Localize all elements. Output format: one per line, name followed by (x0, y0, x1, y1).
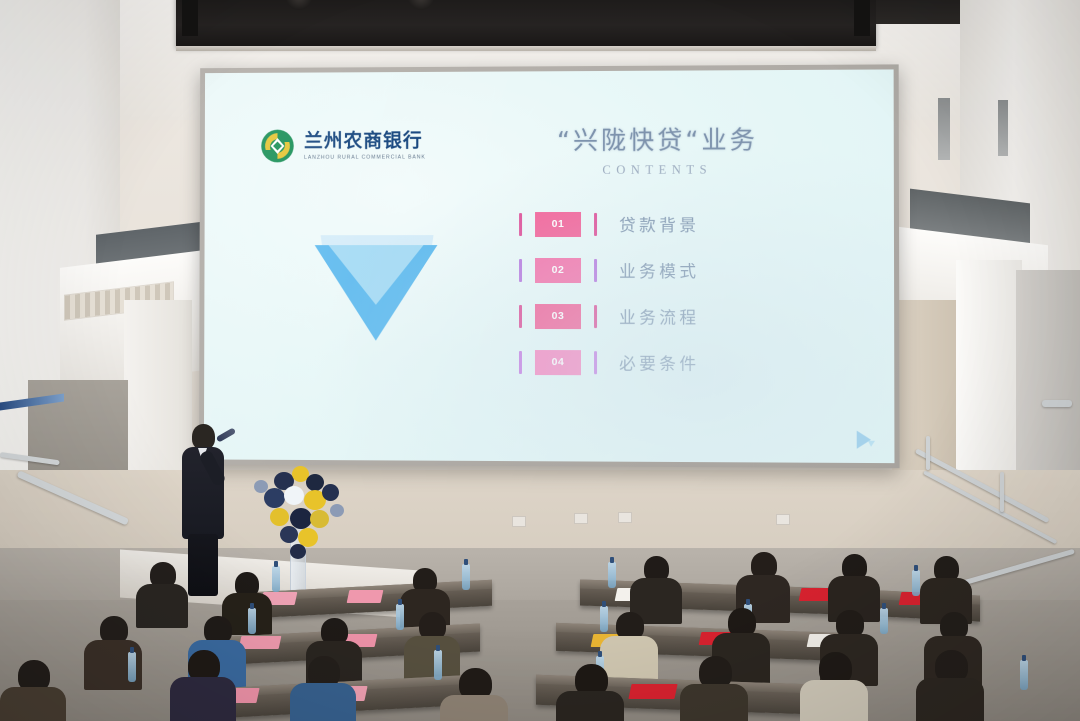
contents-item-02[interactable]: 02 业务模式 (519, 247, 862, 293)
item-number-badge: 01 (535, 211, 581, 236)
left-bar-icon (519, 350, 522, 373)
audience-member (920, 556, 972, 614)
railing-post (926, 436, 930, 470)
red-folder (628, 684, 677, 699)
bank-name-en: LANZHOU RURAL COMMERCIAL BANK (304, 154, 426, 160)
item-number-badge: 02 (535, 257, 581, 282)
slide-title: “兴陇快贷“业务 (477, 120, 839, 157)
wall-outlet (512, 516, 526, 527)
left-bar-icon (519, 213, 522, 236)
wall-outlet (618, 512, 632, 523)
water-bottle (248, 608, 256, 634)
audience-member (800, 652, 868, 721)
contents-item-label: 必要条件 (619, 350, 700, 374)
water-bottle (272, 566, 280, 592)
left-bar-icon (519, 304, 522, 327)
railing-post (1000, 472, 1004, 512)
conference-hall-scene: 兰州农商银行 LANZHOU RURAL COMMERCIAL BANK “兴陇… (0, 0, 1080, 721)
audience-member (916, 650, 984, 721)
water-bottle (880, 608, 888, 634)
presentation-slide: 兰州农商银行 LANZHOU RURAL COMMERCIAL BANK “兴陇… (204, 69, 895, 463)
right-bar-icon (594, 212, 597, 235)
slide-subtitle: CONTENTS (477, 162, 839, 178)
audience-member (556, 664, 624, 721)
bank-logo-block: 兰州农商银行 LANZHOU RURAL COMMERCIAL BANK (260, 128, 426, 164)
left-bar-icon (519, 259, 522, 282)
audience-member (170, 650, 236, 721)
right-wall-slot-1 (938, 98, 950, 160)
audience-member (0, 660, 66, 721)
audience-member (290, 656, 356, 721)
water-bottle (912, 570, 920, 596)
right-bar-icon (594, 258, 597, 281)
contents-item-01[interactable]: 01 贷款背景 (519, 200, 861, 247)
right-bar-icon (594, 351, 597, 374)
contents-item-label: 业务模式 (619, 258, 699, 282)
microphone-icon (216, 427, 236, 442)
contents-item-label: 业务流程 (619, 304, 699, 328)
presenter-legs (188, 534, 218, 596)
contents-item-04[interactable]: 04 必要条件 (519, 339, 862, 386)
lanzhou-rural-commercial-bank-logo-icon (260, 128, 295, 164)
ceiling-equipment-panel (176, 0, 876, 46)
audience-member (404, 612, 460, 674)
contents-item-03[interactable]: 03 业务流程 (519, 293, 862, 340)
contents-list: 01 贷款背景 02 业务模式 03 业务流程 (519, 200, 862, 386)
audience-member (630, 556, 682, 614)
railing-bracket (1042, 400, 1072, 407)
item-number-badge: 03 (535, 303, 581, 328)
wall-outlet (574, 513, 588, 524)
audience-member (440, 668, 508, 721)
projection-screen: 兰州农商银行 LANZHOU RURAL COMMERCIAL BANK “兴陇… (199, 64, 900, 468)
water-bottle (608, 562, 616, 588)
play-triangle-watermark-icon (854, 429, 876, 451)
right-bar-icon (594, 305, 597, 328)
item-number-badge: 04 (535, 350, 581, 375)
audience-member (736, 552, 790, 612)
audience-member (828, 554, 880, 612)
audience-member (680, 656, 748, 721)
audience-member (136, 562, 188, 618)
contents-item-label: 贷款背景 (619, 212, 699, 236)
right-wall-slot-2 (998, 100, 1008, 156)
water-bottle (396, 604, 404, 630)
chevron-down-triangle-icon (307, 229, 446, 344)
water-bottle (128, 652, 136, 682)
water-bottle (462, 564, 470, 590)
handout-paper (347, 590, 384, 603)
water-bottle (1020, 660, 1028, 690)
bank-name-cn: 兰州农商银行 (304, 131, 426, 150)
wall-outlet (776, 514, 790, 525)
